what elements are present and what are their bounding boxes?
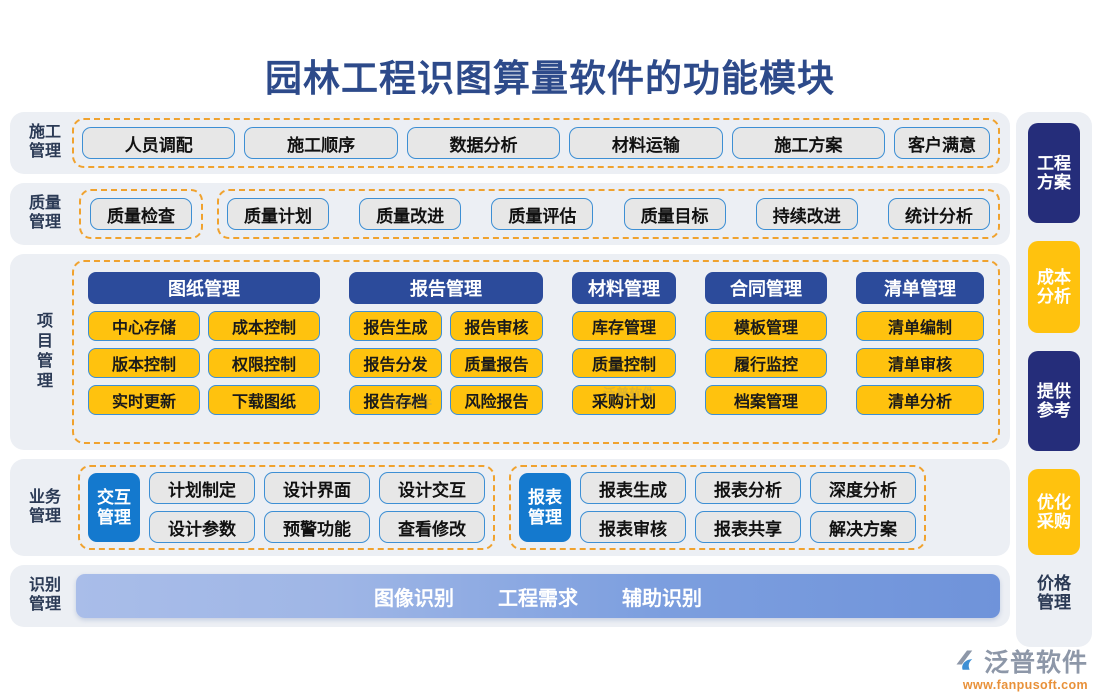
label-line-2: 管理 <box>18 508 72 527</box>
right-rail: 工程 方案 成本 分析 提供 参考 优化 采购 价格 管理 <box>1016 112 1092 647</box>
column-body-contract: 模板管理 履行监控 档案管理 <box>705 311 827 415</box>
chip-reporting-2-1[interactable]: 解决方案 <box>810 511 916 543</box>
label-char-4: 理 <box>18 372 72 392</box>
label-line-2: 管理 <box>18 143 72 162</box>
ychip-report-a2[interactable]: 报告存档 <box>349 385 442 415</box>
brand-logo: 泛普软件 www.fanpusoft.com <box>953 643 1088 692</box>
quality-chip-group: 质量计划 质量改进 质量评估 质量目标 持续改进 统计分析 <box>217 189 1000 239</box>
chip-reporting-1-1[interactable]: 报表共享 <box>695 511 801 543</box>
reporting-col-1: 报表分析 报表共享 <box>695 472 801 543</box>
interaction-chip-grid: 计划制定 设计参数 设计界面 预警功能 设计交互 查看修改 <box>149 472 485 543</box>
project-column-drawing: 图纸管理 中心存储 版本控制 实时更新 成本控制 权限控制 下载图纸 <box>88 272 320 432</box>
infographic-page: 园林工程识图算量软件的功能模块 施工 管理 人员调配 施工顺序 数据分析 材料运… <box>0 0 1100 700</box>
interaction-col-1: 设计界面 预警功能 <box>264 472 370 543</box>
section-project: 项 目 管 理 图纸管理 中心存储 版本控制 实时更新 <box>10 254 1010 450</box>
chip-interaction-0-1[interactable]: 设计参数 <box>149 511 255 543</box>
column-header-list[interactable]: 清单管理 <box>856 272 984 304</box>
rail-item-optimize-purchase[interactable]: 优化 采购 <box>1028 469 1080 555</box>
rail-line-2: 管理 <box>1037 593 1071 612</box>
logo-top-row: 泛普软件 <box>953 643 1088 679</box>
ychip-list-a0[interactable]: 清单编制 <box>856 311 984 341</box>
column-body-report: 报告生成 报告分发 报告存档 报告审核 质量报告 风险报告 <box>349 311 543 415</box>
column-header-contract[interactable]: 合同管理 <box>705 272 827 304</box>
chip-construction-4[interactable]: 施工方案 <box>732 127 885 159</box>
ychip-contract-a2[interactable]: 档案管理 <box>705 385 827 415</box>
label-char-3: 管 <box>18 352 72 372</box>
reporting-chip-grid: 报表生成 报表审核 报表分析 报表共享 深度分析 解决方案 <box>580 472 916 543</box>
label-char-1: 项 <box>18 312 72 332</box>
label-line-2: 管理 <box>18 596 72 615</box>
fanpu-swoosh-icon <box>953 647 981 675</box>
recognition-item-1[interactable]: 工程需求 <box>498 582 578 611</box>
column-body-list: 清单编制 清单审核 清单分析 <box>856 311 984 415</box>
column-header-report[interactable]: 报告管理 <box>349 272 543 304</box>
chip-reporting-1-0[interactable]: 报表分析 <box>695 472 801 504</box>
badge-line-1: 报表 <box>528 488 562 507</box>
ychip-drawing-b2[interactable]: 下载图纸 <box>208 385 320 415</box>
construction-chip-group: 人员调配 施工顺序 数据分析 材料运输 施工方案 客户满意 <box>72 118 1000 168</box>
label-line-1: 识别 <box>18 577 72 596</box>
badge-interaction-management[interactable]: 交互 管理 <box>88 473 140 542</box>
badge-reporting-management[interactable]: 报表 管理 <box>519 473 571 542</box>
ychip-report-a1[interactable]: 报告分发 <box>349 348 442 378</box>
rail-line-1: 价格 <box>1037 574 1071 593</box>
chip-interaction-1-1[interactable]: 预警功能 <box>264 511 370 543</box>
rail-item-provide-reference[interactable]: 提供 参考 <box>1028 351 1080 451</box>
section-construction: 施工 管理 人员调配 施工顺序 数据分析 材料运输 施工方案 客户满意 <box>10 112 1010 174</box>
reporting-col-2: 深度分析 解决方案 <box>810 472 916 543</box>
ychip-material-a1[interactable]: 质量控制 <box>572 348 676 378</box>
label-line-1: 质量 <box>18 195 72 214</box>
ychip-drawing-a0[interactable]: 中心存储 <box>88 311 200 341</box>
section-label-quality: 质量 管理 <box>10 195 72 232</box>
drawing-subcol-a: 中心存储 版本控制 实时更新 <box>88 311 200 415</box>
label-char-2: 目 <box>18 332 72 352</box>
rail-item-price-management[interactable]: 价格 管理 <box>1028 565 1080 621</box>
section-label-recognition: 识别 管理 <box>10 577 72 614</box>
chip-quality-4[interactable]: 持续改进 <box>756 198 858 230</box>
label-line-1: 业务 <box>18 489 72 508</box>
chip-quality-0[interactable]: 质量计划 <box>227 198 329 230</box>
column-body-material: 库存管理 质量控制 采购计划 <box>572 311 676 415</box>
project-columns-group: 图纸管理 中心存储 版本控制 实时更新 成本控制 权限控制 下载图纸 <box>72 260 1000 444</box>
chip-quality-5[interactable]: 统计分析 <box>888 198 990 230</box>
recognition-bar: 图像识别 工程需求 辅助识别 <box>76 574 1000 618</box>
report-subcol-a: 报告生成 报告分发 报告存档 <box>349 311 442 415</box>
logo-url: www.fanpusoft.com <box>963 678 1088 692</box>
rail-line-2: 方案 <box>1037 173 1071 192</box>
recognition-item-0[interactable]: 图像识别 <box>374 582 454 611</box>
chip-quality-3[interactable]: 质量目标 <box>624 198 726 230</box>
ychip-drawing-b1[interactable]: 权限控制 <box>208 348 320 378</box>
column-header-drawing[interactable]: 图纸管理 <box>88 272 320 304</box>
ychip-contract-a0[interactable]: 模板管理 <box>705 311 827 341</box>
ychip-list-a1[interactable]: 清单审核 <box>856 348 984 378</box>
badge-line-2: 管理 <box>97 508 131 527</box>
chip-construction-0[interactable]: 人员调配 <box>82 127 235 159</box>
section-quality: 质量 管理 质量检查 质量计划 质量改进 质量评估 质量目标 持续改进 统计分析 <box>10 183 1010 245</box>
chip-interaction-1-0[interactable]: 设计界面 <box>264 472 370 504</box>
chip-quality-check[interactable]: 质量检查 <box>90 198 192 230</box>
ychip-contract-a1[interactable]: 履行监控 <box>705 348 827 378</box>
rail-line-2: 分析 <box>1037 287 1071 306</box>
project-column-list: 清单管理 清单编制 清单审核 清单分析 <box>856 272 984 432</box>
project-column-contract: 合同管理 模板管理 履行监控 档案管理 <box>705 272 827 432</box>
business-group-reporting: 报表 管理 报表生成 报表审核 报表分析 报表共享 深度分析 解决方案 <box>509 465 926 550</box>
ychip-report-b0[interactable]: 报告审核 <box>450 311 543 341</box>
rail-line-1: 成本 <box>1037 268 1071 287</box>
chip-reporting-2-0[interactable]: 深度分析 <box>810 472 916 504</box>
label-line-1: 施工 <box>18 124 72 143</box>
rail-item-engineering-plan[interactable]: 工程 方案 <box>1028 123 1080 223</box>
chip-reporting-0-1[interactable]: 报表审核 <box>580 511 686 543</box>
rail-line-1: 优化 <box>1037 493 1071 512</box>
page-title: 园林工程识图算量软件的功能模块 <box>0 48 1100 102</box>
rail-line-1: 工程 <box>1037 154 1071 173</box>
section-business: 业务 管理 交互 管理 计划制定 设计参数 设计界面 预警功能 <box>10 459 1010 556</box>
section-label-project: 项 目 管 理 <box>10 312 72 393</box>
drawing-subcol-b: 成本控制 权限控制 下载图纸 <box>208 311 320 415</box>
chip-interaction-0-0[interactable]: 计划制定 <box>149 472 255 504</box>
chip-construction-1[interactable]: 施工顺序 <box>244 127 397 159</box>
chip-construction-3[interactable]: 材料运输 <box>569 127 722 159</box>
section-label-construction: 施工 管理 <box>10 124 72 161</box>
rail-item-cost-analysis[interactable]: 成本 分析 <box>1028 241 1080 333</box>
ychip-drawing-a2[interactable]: 实时更新 <box>88 385 200 415</box>
ychip-report-b2[interactable]: 风险报告 <box>450 385 543 415</box>
interaction-col-0: 计划制定 设计参数 <box>149 472 255 543</box>
chip-construction-2[interactable]: 数据分析 <box>407 127 560 159</box>
ychip-drawing-b0[interactable]: 成本控制 <box>208 311 320 341</box>
chip-construction-5[interactable]: 客户满意 <box>894 127 990 159</box>
ychip-report-b1[interactable]: 质量报告 <box>450 348 543 378</box>
ychip-report-a0[interactable]: 报告生成 <box>349 311 442 341</box>
ychip-drawing-a1[interactable]: 版本控制 <box>88 348 200 378</box>
contract-subcol-a: 模板管理 履行监控 档案管理 <box>705 311 827 415</box>
ychip-list-a2[interactable]: 清单分析 <box>856 385 984 415</box>
rail-line-2: 参考 <box>1037 401 1071 420</box>
chip-quality-2[interactable]: 质量评估 <box>491 198 593 230</box>
list-subcol-a: 清单编制 清单审核 清单分析 <box>856 311 984 415</box>
column-header-material[interactable]: 材料管理 <box>572 272 676 304</box>
interaction-col-2: 设计交互 查看修改 <box>379 472 485 543</box>
modules-board: 施工 管理 人员调配 施工顺序 数据分析 材料运输 施工方案 客户满意 质量 管… <box>10 112 1010 647</box>
quality-highlight-group: 质量检查 <box>79 189 203 239</box>
chip-interaction-2-0[interactable]: 设计交互 <box>379 472 485 504</box>
rail-line-2: 采购 <box>1037 512 1071 531</box>
badge-line-1: 交互 <box>97 488 131 507</box>
project-column-report: 报告管理 报告生成 报告分发 报告存档 报告审核 质量报告 风险报告 <box>349 272 543 432</box>
ychip-material-a0[interactable]: 库存管理 <box>572 311 676 341</box>
report-subcol-b: 报告审核 质量报告 风险报告 <box>450 311 543 415</box>
column-body-drawing: 中心存储 版本控制 实时更新 成本控制 权限控制 下载图纸 <box>88 311 320 415</box>
badge-line-2: 管理 <box>528 508 562 527</box>
section-label-business: 业务 管理 <box>10 489 72 526</box>
rail-line-1: 提供 <box>1037 382 1071 401</box>
section-recognition: 识别 管理 图像识别 工程需求 辅助识别 <box>10 565 1010 627</box>
label-line-2: 管理 <box>18 214 72 233</box>
chip-interaction-2-1[interactable]: 查看修改 <box>379 511 485 543</box>
chip-reporting-0-0[interactable]: 报表生成 <box>580 472 686 504</box>
reporting-col-0: 报表生成 报表审核 <box>580 472 686 543</box>
recognition-item-2[interactable]: 辅助识别 <box>622 582 702 611</box>
business-group-interaction: 交互 管理 计划制定 设计参数 设计界面 预警功能 设计交互 查看修改 <box>78 465 495 550</box>
material-subcol-a: 库存管理 质量控制 采购计划 <box>572 311 676 415</box>
chip-quality-1[interactable]: 质量改进 <box>359 198 461 230</box>
ychip-material-a2[interactable]: 采购计划 <box>572 385 676 415</box>
logo-wordmark: 泛普软件 <box>984 643 1088 679</box>
project-column-material: 材料管理 库存管理 质量控制 采购计划 <box>572 272 676 432</box>
